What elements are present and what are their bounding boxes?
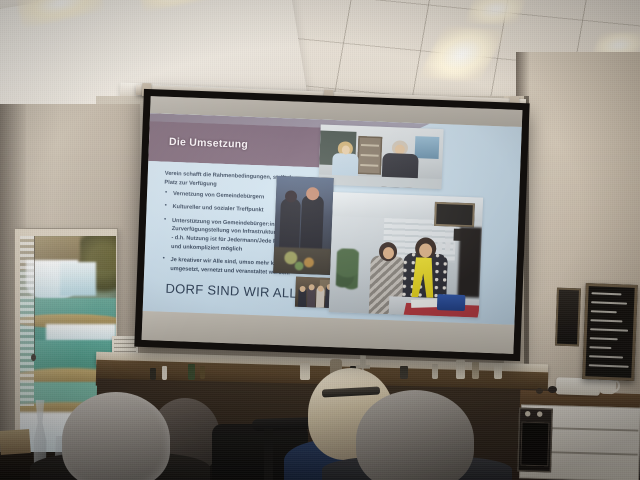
slide-bullet-text: Je kreativer wir Alle sind, umso mehr ka… — [170, 257, 290, 276]
photo-kitchen-couple — [319, 125, 444, 190]
projection-screen[interactable]: Die Umsetzung Verein schafft die Rahmenb… — [134, 89, 529, 361]
slide-bullet-text: Kultureller und sozialer Treffpunkt — [172, 204, 263, 213]
bottle — [188, 364, 195, 380]
photo-two-women-yellow-scarf — [329, 192, 483, 318]
presentation-slide: Die Umsetzung Verein schafft die Rahmenb… — [143, 113, 522, 325]
audience-person-left — [62, 392, 170, 480]
bottle — [200, 366, 205, 379]
bottle — [162, 366, 167, 380]
bottle — [400, 366, 408, 379]
oven — [517, 408, 553, 473]
chalkboard-menu — [582, 283, 638, 381]
oven-door-window — [520, 422, 549, 467]
booklet — [0, 429, 31, 455]
audience-person-right — [356, 390, 474, 480]
slide-slogan: DORF SIND WIR ALLE! — [165, 281, 310, 301]
bottle — [150, 368, 156, 380]
glass — [494, 364, 502, 379]
bottle — [432, 364, 438, 379]
jar — [300, 363, 310, 380]
wall-frame — [555, 288, 581, 347]
glass — [472, 362, 479, 379]
projection-screen-surface: Die Umsetzung Verein schafft die Rahmenb… — [142, 96, 523, 354]
kitchen-pot — [548, 386, 557, 393]
kitchen-tray — [556, 377, 601, 396]
chair-post — [264, 428, 273, 480]
blue-box — [437, 294, 466, 311]
slide-bullet-text: Vernetzung von Gemeindebürgern — [173, 191, 265, 200]
photo-group-dark — [273, 176, 334, 275]
photo-scene: Die Umsetzung Verein schafft die Rahmenb… — [0, 0, 640, 480]
oven-knobs-icon — [522, 411, 550, 418]
glass — [456, 360, 465, 379]
kitchen-pot — [536, 388, 543, 394]
